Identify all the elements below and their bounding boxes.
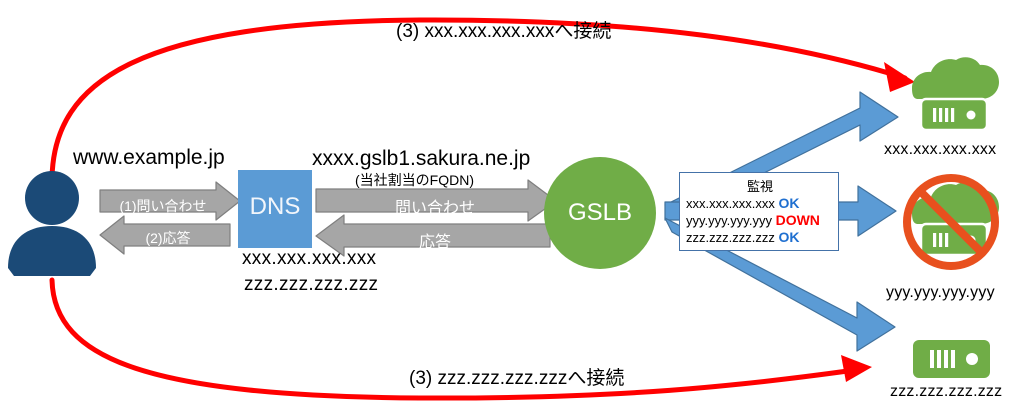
server-ip-label-top: xxx.xxx.xxx.xxx [884, 142, 996, 159]
grey-arrow-label-response-2: (2)応答 [108, 228, 228, 248]
monitor-panel: 監視 xxx.xxx.xxx.xxx OK yyy.yyy.yyy.yyy DO… [679, 172, 839, 251]
dns-resolved-ip-2: zzz.zzz.zzz.zzz [244, 275, 378, 295]
person-icon [8, 171, 96, 276]
gslb-node-label: GSLB [545, 199, 655, 227]
grey-arrow-label-query-3: 問い合わせ [330, 194, 540, 218]
user-domain-label: www.example.jp [73, 147, 225, 169]
red-connection-label-top: (3) xxx.xxx.xxx.xxxへ接続 [396, 22, 611, 42]
monitor-row-status: OK [778, 195, 799, 211]
cloud-server-icon [912, 57, 999, 130]
monitor-row-status: DOWN [776, 212, 820, 228]
diagram-canvas: www.example.jp DNS xxx.xxx.xxx.xxx zzz.z… [0, 0, 1024, 417]
server-ip-label-middle: yyy.yyy.yyy.yyy [886, 285, 995, 302]
grey-arrow-label-response-4: 応答 [330, 228, 540, 252]
monitor-row: zzz.zzz.zzz.zzz OK [686, 229, 799, 245]
monitor-row: xxx.xxx.xxx.xxx OK [686, 195, 799, 211]
grey-arrow-label-query-1: (1)問い合わせ [103, 196, 223, 216]
cloud-server-blocked-icon [907, 178, 999, 266]
monitor-row-status: OK [778, 229, 799, 245]
dns-node-label: DNS [240, 193, 310, 221]
gslb-fqdn-note: (当社割当のFQDN) [355, 173, 474, 188]
monitor-row-ip: xxx.xxx.xxx.xxx [686, 196, 775, 211]
server-ip-label-bottom: zzz.zzz.zzz.zzz [890, 384, 1002, 401]
monitor-row: yyy.yyy.yyy.yyy DOWN [686, 212, 820, 228]
red-connection-label-bottom: (3) zzz.zzz.zzz.zzzへ接続 [409, 369, 624, 389]
monitor-row-ip: zzz.zzz.zzz.zzz [686, 230, 775, 245]
gslb-fqdn-label: xxxx.gslb1.sakura.ne.jp [312, 148, 530, 170]
monitor-title: 監視 [680, 176, 840, 195]
server-icon [913, 340, 990, 378]
monitor-row-ip: yyy.yyy.yyy.yyy [686, 213, 772, 228]
